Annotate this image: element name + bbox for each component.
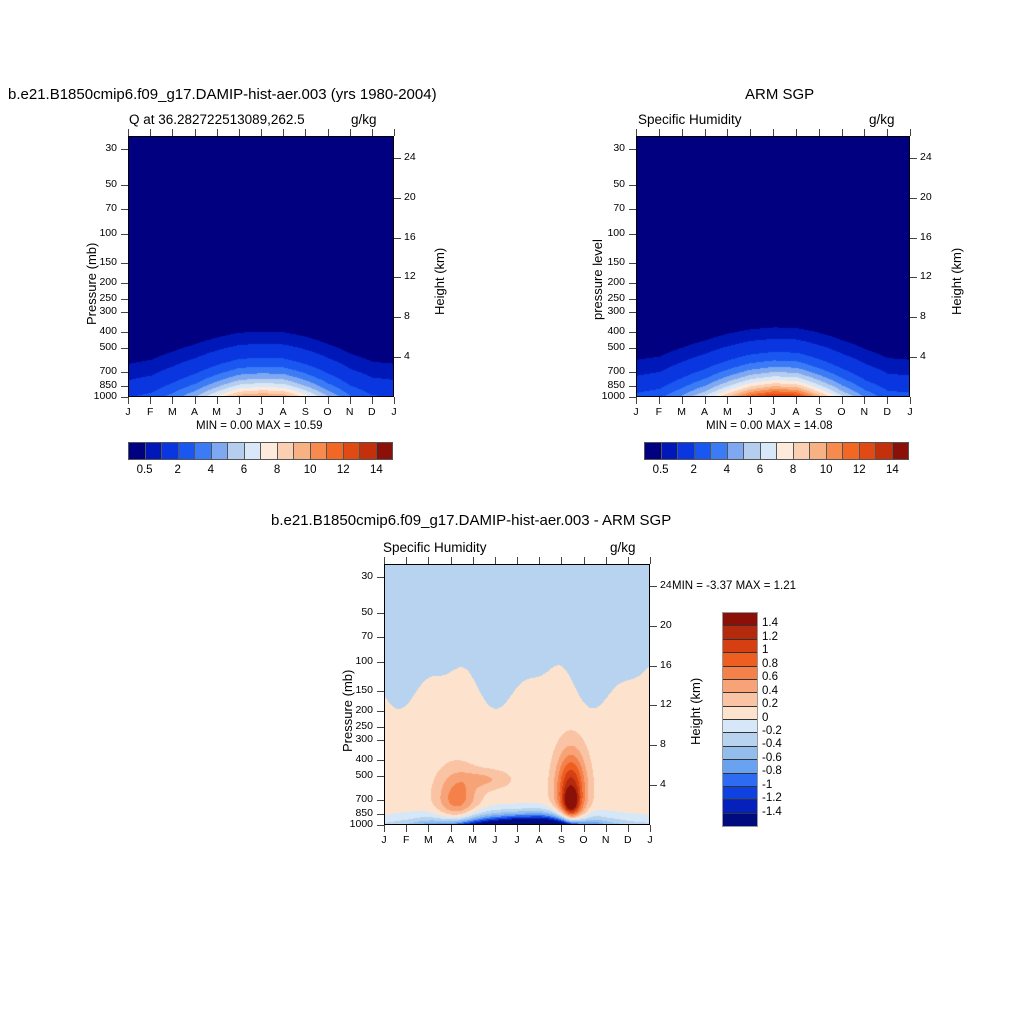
month-tick <box>539 825 540 832</box>
month-tick <box>650 825 651 832</box>
pressure-tick-label: 150 <box>0 256 625 268</box>
pressure-tick-label: 700 <box>0 793 373 805</box>
bottom-contour-plot[interactable] <box>384 564 650 825</box>
colorbar-swatch <box>195 443 212 459</box>
month-tick <box>659 397 660 404</box>
pressure-tick-label: 250 <box>0 292 625 304</box>
month-tick-label: J <box>742 406 758 418</box>
colorbar-tick-label: 0.8 <box>762 658 800 670</box>
colorbar-tick-label: -1.2 <box>762 792 800 804</box>
topleft-colorbar-labels: 0.52468101214 <box>128 462 393 478</box>
month-tick-top <box>773 129 774 136</box>
month-tick-top <box>606 557 607 564</box>
pressure-tick-label: 200 <box>0 704 373 716</box>
colorbar-tick-label: 6 <box>744 464 776 476</box>
month-tick-label: D <box>879 406 895 418</box>
topright-ylabel-height: Height (km) <box>949 248 964 315</box>
height-tick <box>394 357 401 358</box>
month-tick-top <box>406 557 407 564</box>
month-tick <box>773 397 774 404</box>
pressure-tick-label: 250 <box>0 720 373 732</box>
month-tick-top <box>384 557 385 564</box>
height-tick-label: 24 <box>660 579 680 591</box>
height-tick <box>910 317 917 318</box>
month-tick-top <box>372 129 373 136</box>
topleft-header-variable: Q at 36.282722513089,262.5 <box>129 112 305 127</box>
pressure-tick <box>629 312 636 313</box>
month-tick-top <box>350 129 351 136</box>
pressure-tick <box>377 776 384 777</box>
colorbar-swatch <box>876 443 893 459</box>
month-tick <box>705 397 706 404</box>
month-tick-top <box>842 129 843 136</box>
month-tick-top <box>517 557 518 564</box>
colorbar-tick-label: -0.2 <box>762 725 800 737</box>
month-tick-label: A <box>697 406 713 418</box>
month-tick-label: M <box>164 406 180 418</box>
month-tick-label: A <box>788 406 804 418</box>
height-tick-label: 12 <box>920 270 940 282</box>
height-tick <box>394 198 401 199</box>
height-tick <box>394 158 401 159</box>
month-tick-label: D <box>364 406 380 418</box>
colorbar-tick-label: 0 <box>762 712 800 724</box>
bottom-minmax-label: MIN = -3.37 MAX = 1.21 <box>672 580 796 592</box>
month-tick <box>682 397 683 404</box>
topright-minmax-label: MIN = 0.00 MAX = 14.08 <box>706 420 833 432</box>
month-tick-label: O <box>320 406 336 418</box>
height-tick <box>910 277 917 278</box>
pressure-tick-label: 500 <box>0 769 373 781</box>
month-tick <box>796 397 797 404</box>
month-tick <box>451 825 452 832</box>
pressure-tick-label: 850 <box>0 379 625 391</box>
colorbar-swatch <box>179 443 196 459</box>
month-tick-top <box>727 129 728 136</box>
height-tick-label: 12 <box>660 698 680 710</box>
height-tick <box>650 785 657 786</box>
height-tick <box>910 158 917 159</box>
month-tick-label: J <box>386 406 402 418</box>
colorbar-swatch <box>723 787 757 800</box>
pressure-tick-label: 30 <box>0 142 625 154</box>
colorbar-swatch <box>261 443 278 459</box>
colorbar-swatch <box>810 443 827 459</box>
topright-panel-title: ARM SGP <box>745 86 814 103</box>
pressure-tick-label: 30 <box>0 570 373 582</box>
month-tick <box>606 825 607 832</box>
month-tick-label: J <box>120 406 136 418</box>
pressure-tick <box>629 299 636 300</box>
pressure-tick <box>629 348 636 349</box>
pressure-tick <box>377 637 384 638</box>
month-tick-top <box>473 557 474 564</box>
height-tick <box>910 357 917 358</box>
colorbar-swatch <box>723 747 757 760</box>
pressure-tick <box>629 234 636 235</box>
month-tick <box>628 825 629 832</box>
month-tick <box>473 825 474 832</box>
month-tick-top <box>495 557 496 564</box>
month-tick-label: M <box>209 406 225 418</box>
colorbar-swatch <box>311 443 328 459</box>
colorbar-tick-label: 2 <box>162 464 194 476</box>
colorbar-tick-label: 10 <box>294 464 326 476</box>
colorbar-tick-label: 0.5 <box>129 464 161 476</box>
colorbar-swatch <box>827 443 844 459</box>
pressure-tick <box>377 825 384 826</box>
month-tick-top <box>819 129 820 136</box>
month-tick-top <box>682 129 683 136</box>
topright-colorbar <box>644 442 909 460</box>
pressure-tick <box>377 711 384 712</box>
month-tick-label: J <box>765 406 781 418</box>
colorbar-tick-label: 0.2 <box>762 698 800 710</box>
month-tick-label: N <box>342 406 358 418</box>
colorbar-swatch <box>278 443 295 459</box>
month-tick-top <box>305 129 306 136</box>
topleft-colorbar <box>128 442 393 460</box>
month-tick <box>910 397 911 404</box>
month-tick-top <box>195 129 196 136</box>
pressure-tick <box>377 662 384 663</box>
colorbar-swatch <box>212 443 229 459</box>
colorbar-swatch <box>723 680 757 693</box>
colorbar-swatch <box>344 443 361 459</box>
month-tick <box>428 825 429 832</box>
colorbar-tick-label: -1 <box>762 779 800 791</box>
month-tick-label: N <box>856 406 872 418</box>
pressure-tick <box>629 332 636 333</box>
colorbar-swatch <box>723 667 757 680</box>
month-tick-top <box>864 129 865 136</box>
pressure-tick-label: 300 <box>0 305 625 317</box>
colorbar-swatch <box>711 443 728 459</box>
month-tick <box>517 825 518 832</box>
month-tick <box>406 825 407 832</box>
month-tick-label: J <box>376 834 392 846</box>
month-tick-top <box>636 129 637 136</box>
topleft-minmax-label: MIN = 0.00 MAX = 10.59 <box>196 420 323 432</box>
month-tick-top <box>584 557 585 564</box>
bottom-panel-title: b.e21.B1850cmip6.f09_g17.DAMIP-hist-aer.… <box>271 512 671 529</box>
pressure-tick <box>629 397 636 398</box>
colorbar-swatch <box>723 720 757 733</box>
month-tick <box>819 397 820 404</box>
month-tick-top <box>796 129 797 136</box>
pressure-tick-label: 1000 <box>0 818 373 830</box>
month-tick-label: A <box>187 406 203 418</box>
pressure-tick-label: 1000 <box>0 390 625 402</box>
pressure-tick <box>377 613 384 614</box>
height-tick <box>650 586 657 587</box>
pressure-tick <box>629 283 636 284</box>
bottom-header-units: g/kg <box>610 540 636 555</box>
colorbar-swatch <box>146 443 163 459</box>
pressure-tick <box>377 760 384 761</box>
colorbar-tick-label: 8 <box>777 464 809 476</box>
pressure-tick-label: 300 <box>0 733 373 745</box>
colorbar-swatch <box>228 443 245 459</box>
colorbar-swatch <box>723 640 757 653</box>
colorbar-tick-label: -0.8 <box>762 765 800 777</box>
colorbar-tick-label: 1 <box>762 644 800 656</box>
colorbar-swatch <box>695 443 712 459</box>
height-tick-label: 8 <box>660 738 680 750</box>
pressure-tick-label: 700 <box>0 365 625 377</box>
pressure-tick-label: 400 <box>0 753 373 765</box>
month-tick-label: J <box>509 834 525 846</box>
colorbar-tick-label: 12 <box>327 464 359 476</box>
month-tick-label: J <box>628 406 644 418</box>
colorbar-tick-label: 4 <box>195 464 227 476</box>
month-tick-label: J <box>642 834 658 846</box>
pressure-tick <box>629 263 636 264</box>
month-tick-label: J <box>231 406 247 418</box>
month-tick-label: A <box>531 834 547 846</box>
colorbar-swatch <box>723 653 757 666</box>
height-tick-label: 8 <box>920 310 940 322</box>
pressure-tick <box>377 691 384 692</box>
colorbar-swatch <box>360 443 377 459</box>
month-tick-top <box>561 557 562 564</box>
colorbar-swatch <box>662 443 679 459</box>
month-tick <box>584 825 585 832</box>
month-tick-label: S <box>297 406 313 418</box>
bottom-ylabel-height: Height (km) <box>688 678 703 745</box>
colorbar-swatch <box>723 760 757 773</box>
pressure-tick-label: 400 <box>0 325 625 337</box>
month-tick-top <box>887 129 888 136</box>
pressure-tick <box>377 727 384 728</box>
month-tick <box>842 397 843 404</box>
pressure-tick-label: 100 <box>0 655 373 667</box>
colorbar-swatch <box>893 443 909 459</box>
colorbar-swatch <box>794 443 811 459</box>
pressure-tick <box>629 386 636 387</box>
colorbar-tick-label: 14 <box>360 464 392 476</box>
bottom-colorbar-labels: 1.41.210.80.60.40.20-0.2-0.4-0.6-0.8-1-1… <box>762 612 802 827</box>
month-tick-label: J <box>487 834 503 846</box>
topright-header-units: g/kg <box>869 112 895 127</box>
pressure-tick <box>629 185 636 186</box>
colorbar-swatch <box>723 693 757 706</box>
month-tick-top <box>283 129 284 136</box>
colorbar-swatch <box>723 626 757 639</box>
month-tick-top <box>239 129 240 136</box>
colorbar-swatch <box>645 443 662 459</box>
pressure-tick-label: 100 <box>0 227 625 239</box>
month-tick-label: S <box>811 406 827 418</box>
colorbar-tick-label: 1.2 <box>762 631 800 643</box>
colorbar-swatch <box>860 443 877 459</box>
month-tick-top <box>172 129 173 136</box>
colorbar-swatch <box>245 443 262 459</box>
bottom-vertical-colorbar <box>722 612 758 827</box>
month-tick-top <box>428 557 429 564</box>
colorbar-swatch <box>728 443 745 459</box>
pressure-tick <box>377 577 384 578</box>
height-tick <box>910 238 917 239</box>
month-tick-label: O <box>834 406 850 418</box>
colorbar-swatch <box>678 443 695 459</box>
month-tick-label: J <box>902 406 918 418</box>
colorbar-tick-label: 14 <box>876 464 908 476</box>
topright-contour-plot[interactable] <box>636 136 910 397</box>
height-tick-label: 4 <box>660 778 680 790</box>
colorbar-swatch <box>129 443 146 459</box>
colorbar-tick-label: -1.4 <box>762 806 800 818</box>
month-tick-label: O <box>576 834 592 846</box>
pressure-tick <box>629 372 636 373</box>
height-tick-label: 20 <box>660 619 680 631</box>
pressure-tick-label: 200 <box>0 276 625 288</box>
height-tick-label: 16 <box>920 231 940 243</box>
month-tick-top <box>128 129 129 136</box>
pressure-tick-label: 50 <box>0 178 625 190</box>
pressure-tick-label: 850 <box>0 807 373 819</box>
month-tick-top <box>451 557 452 564</box>
height-tick-label: 20 <box>920 191 940 203</box>
colorbar-tick-label: 0.4 <box>762 685 800 697</box>
month-tick-label: M <box>465 834 481 846</box>
colorbar-swatch <box>723 814 757 826</box>
month-tick-label: S <box>553 834 569 846</box>
month-tick-top <box>705 129 706 136</box>
topright-colorbar-labels: 0.52468101214 <box>644 462 909 478</box>
pressure-tick-label: 150 <box>0 684 373 696</box>
colorbar-tick-label: 10 <box>810 464 842 476</box>
height-tick <box>650 666 657 667</box>
colorbar-swatch <box>744 443 761 459</box>
colorbar-swatch <box>327 443 344 459</box>
month-tick-top <box>150 129 151 136</box>
colorbar-swatch <box>162 443 179 459</box>
pressure-tick-label: 70 <box>0 202 625 214</box>
month-tick <box>636 397 637 404</box>
colorbar-tick-label: -0.6 <box>762 752 800 764</box>
height-tick <box>650 745 657 746</box>
month-tick-label: M <box>719 406 735 418</box>
topleft-header-units: g/kg <box>351 112 377 127</box>
month-tick-top <box>394 129 395 136</box>
colorbar-tick-label: 8 <box>261 464 293 476</box>
month-tick <box>384 825 385 832</box>
month-tick-top <box>910 129 911 136</box>
pressure-tick-label: 500 <box>0 341 625 353</box>
month-tick-label: M <box>420 834 436 846</box>
pressure-tick <box>377 800 384 801</box>
colorbar-swatch <box>723 800 757 813</box>
colorbar-tick-label: 12 <box>843 464 875 476</box>
height-tick-label: 16 <box>660 659 680 671</box>
month-tick <box>727 397 728 404</box>
colorbar-tick-label: 0.6 <box>762 671 800 683</box>
colorbar-tick-label: 2 <box>678 464 710 476</box>
colorbar-tick-label: 1.4 <box>762 617 800 629</box>
height-tick <box>394 317 401 318</box>
colorbar-swatch <box>843 443 860 459</box>
pressure-tick <box>629 209 636 210</box>
colorbar-swatch <box>761 443 778 459</box>
month-tick-top <box>261 129 262 136</box>
colorbar-swatch <box>723 774 757 787</box>
topleft-panel-title: b.e21.B1850cmip6.f09_g17.DAMIP-hist-aer.… <box>8 86 437 103</box>
colorbar-swatch <box>377 443 393 459</box>
month-tick-top <box>750 129 751 136</box>
month-tick-label: J <box>253 406 269 418</box>
pressure-tick <box>629 149 636 150</box>
topright-header-variable: Specific Humidity <box>638 112 742 127</box>
month-tick-top <box>659 129 660 136</box>
pressure-tick-label: 70 <box>0 630 373 642</box>
month-tick-label: F <box>651 406 667 418</box>
height-tick-label: 4 <box>920 350 940 362</box>
month-tick-top <box>217 129 218 136</box>
month-tick <box>495 825 496 832</box>
month-tick-label: D <box>620 834 636 846</box>
height-tick-label: 24 <box>920 151 940 163</box>
month-tick-top <box>650 557 651 564</box>
colorbar-tick-label: 4 <box>711 464 743 476</box>
colorbar-swatch <box>723 613 757 626</box>
height-tick <box>650 626 657 627</box>
colorbar-tick-label: 0.5 <box>645 464 677 476</box>
pressure-tick <box>377 740 384 741</box>
colorbar-tick-label: -0.4 <box>762 738 800 750</box>
pressure-tick-label: 50 <box>0 606 373 618</box>
month-tick-label: A <box>443 834 459 846</box>
month-tick <box>750 397 751 404</box>
bottom-header-variable: Specific Humidity <box>383 540 487 555</box>
month-tick <box>561 825 562 832</box>
month-tick-label: M <box>674 406 690 418</box>
month-tick-label: F <box>398 834 414 846</box>
height-tick <box>910 198 917 199</box>
month-tick-top <box>539 557 540 564</box>
month-tick <box>864 397 865 404</box>
month-tick <box>887 397 888 404</box>
colorbar-swatch <box>777 443 794 459</box>
height-tick <box>650 705 657 706</box>
month-tick-top <box>328 129 329 136</box>
colorbar-tick-label: 6 <box>228 464 260 476</box>
colorbar-swatch <box>723 733 757 746</box>
month-tick-label: N <box>598 834 614 846</box>
colorbar-swatch <box>723 707 757 720</box>
month-tick-top <box>628 557 629 564</box>
colorbar-swatch <box>294 443 311 459</box>
month-tick-label: F <box>142 406 158 418</box>
month-tick-label: A <box>275 406 291 418</box>
pressure-tick <box>377 814 384 815</box>
